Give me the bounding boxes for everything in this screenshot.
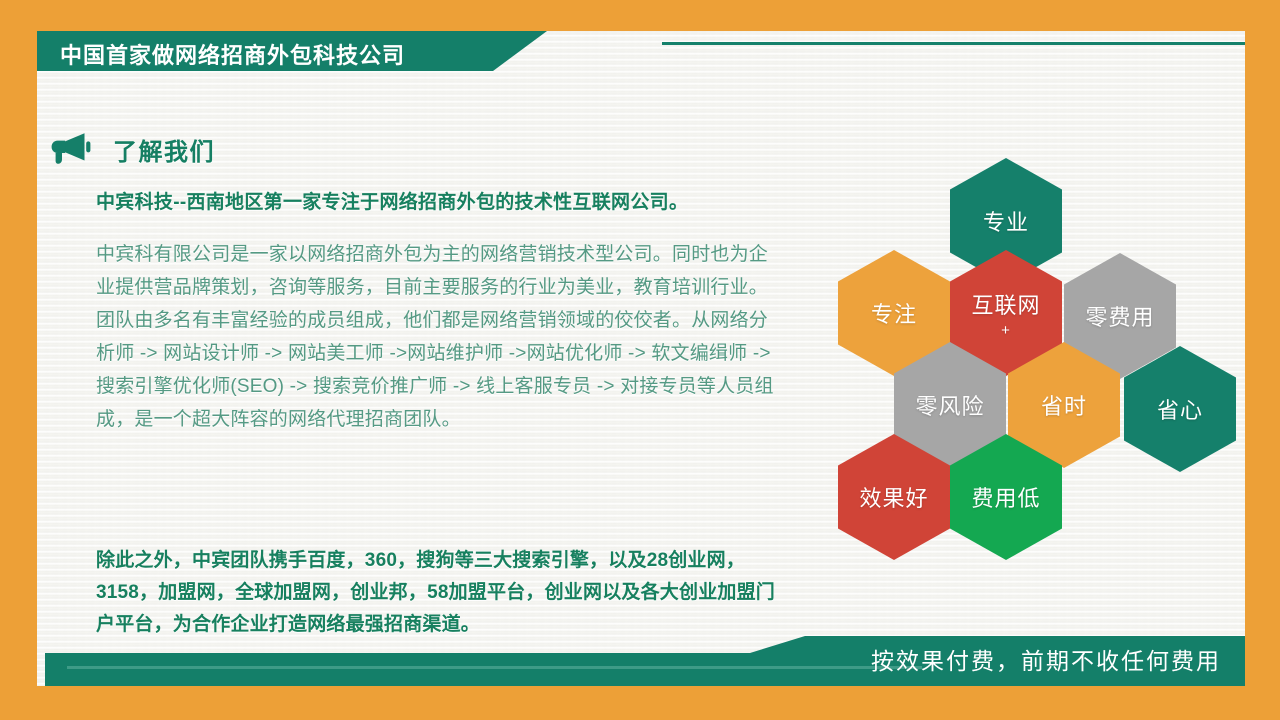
- slide-root: 中国首家做网络招商外包科技公司 了解我们 中宾科技--西南地区第一家专注于网络招…: [0, 0, 1280, 720]
- section-heading: 了解我们: [48, 130, 215, 168]
- hexagon-label: 互联网: [971, 288, 1040, 320]
- hexagon-cluster: 专业专注互联网+零费用零风险省时省心效果好费用低: [830, 150, 1250, 550]
- hexagon-label: 专业: [983, 205, 1029, 237]
- paragraph-one: 中宾科有限公司是一家以网络招商外包为主的网络营销技术型公司。同时也为企业提供营品…: [96, 238, 786, 304]
- bottom-orange-band: [0, 686, 1280, 720]
- top-orange-band: [0, 0, 1280, 31]
- header-divider-line: [662, 42, 1245, 45]
- hexagon-sublabel: +: [1001, 322, 1011, 339]
- megaphone-icon: [48, 130, 94, 168]
- body-copy: 中宾科技--西南地区第一家专注于网络招商外包的技术性互联网公司。 中宾科有限公司…: [96, 190, 786, 436]
- paragraph-two: 团队由多名有丰富经验的成员组成，他们都是网络营销领域的佼佼者。从网络分析师 ->…: [96, 304, 786, 436]
- hexagon-label: 专注: [871, 297, 917, 329]
- footer-banner: 按效果付费，前期不收任何费用: [45, 636, 1245, 686]
- footer: 按效果付费，前期不收任何费用: [37, 636, 1245, 686]
- hexagon-label: 省心: [1157, 393, 1203, 425]
- header-title: 中国首家做网络招商外包科技公司: [60, 38, 405, 70]
- hexagon-label: 效果好: [859, 481, 928, 513]
- hexagon-label: 零风险: [915, 389, 984, 421]
- header-title-banner: 中国首家做网络招商外包科技公司: [37, 31, 547, 71]
- footer-divider-line: [67, 666, 922, 669]
- hexagon-label: 费用低: [971, 481, 1040, 513]
- lead-paragraph: 中宾科技--西南地区第一家专注于网络招商外包的技术性互联网公司。: [96, 190, 786, 216]
- section-title: 了解我们: [113, 132, 215, 167]
- footer-slogan: 按效果付费，前期不收任何费用: [871, 642, 1221, 676]
- hexagon-label: 零费用: [1085, 300, 1154, 332]
- closing-paragraph: 除此之外，中宾团队携手百度，360，搜狗等三大搜索引擎，以及28创业网，3158…: [96, 545, 776, 641]
- hexagon-label: 省时: [1041, 389, 1087, 421]
- header: 中国首家做网络招商外包科技公司: [37, 31, 1245, 71]
